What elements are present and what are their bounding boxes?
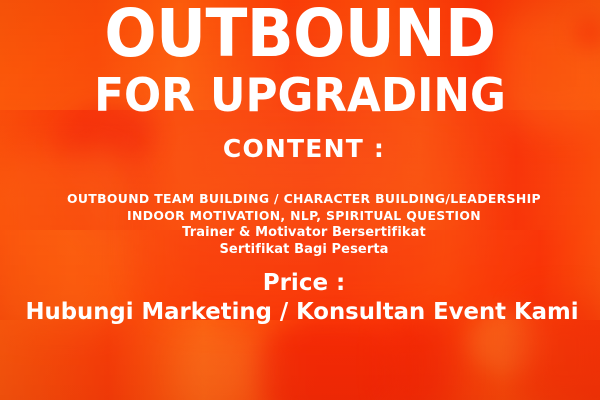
content-detail-line: INDOOR MOTIVATION, NLP, SPIRITUAL QUESTI… (4, 207, 600, 224)
poster-canvas: OUTBOUND FOR UPGRADING CONTENT : OUTBOUN… (0, 0, 600, 400)
price-label: Price : (4, 268, 600, 298)
price-block: Price : Hubungi Marketing / Konsultan Ev… (0, 268, 600, 326)
content-detail-line: Trainer & Motivator Bersertifikat (4, 224, 600, 241)
content-detail-line: Sertifikat Bagi Peserta (4, 241, 600, 258)
content-heading: CONTENT : (4, 136, 600, 161)
poster-content: OUTBOUND FOR UPGRADING CONTENT : OUTBOUN… (0, 0, 600, 400)
poster-subtitle: FOR UPGRADING (15, 72, 585, 118)
poster-title: OUTBOUND (21, 1, 579, 67)
content-detail-line: OUTBOUND TEAM BUILDING / CHARACTER BUILD… (4, 190, 600, 207)
price-value: Hubungi Marketing / Konsultan Event Kami (5, 298, 599, 326)
content-detail-list: OUTBOUND TEAM BUILDING / CHARACTER BUILD… (0, 190, 600, 258)
